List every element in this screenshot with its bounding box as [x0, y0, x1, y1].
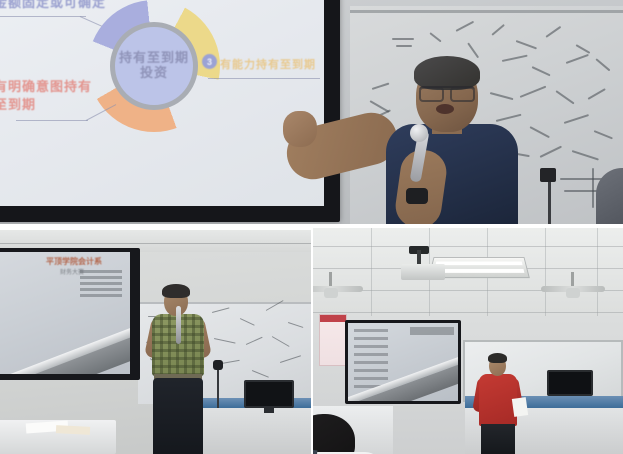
mic-stand-head: [540, 168, 556, 182]
papers-on-table: [56, 425, 90, 435]
projector-screen-frame: 平顶学院会计系 财务大赛: [0, 248, 140, 380]
ceiling-fan-hub: [324, 288, 338, 298]
ceiling-fan-hub: [566, 288, 580, 298]
held-paper: [512, 397, 528, 417]
slide-toolbar-strip: [410, 327, 454, 335]
ceiling-fan-blades: [313, 286, 363, 292]
mic-stand-pole: [217, 366, 219, 408]
eyeglasses-icon: [419, 86, 475, 98]
mic-stand-head: [213, 360, 223, 370]
ceiling-fan-rod: [571, 272, 574, 286]
wall-poster-header: [320, 315, 346, 322]
presenter-trousers: [481, 424, 515, 454]
monitor-stand: [264, 408, 274, 413]
ceiling-tile-line: [597, 228, 598, 316]
ceiling-tile-line: [545, 228, 546, 316]
presenter-fist: [283, 111, 317, 147]
slide-label-left: 有明确意图持有 至到期: [0, 78, 92, 113]
microphone-icon: [176, 306, 181, 344]
projector-screen: 平顶学院会计系 财务大赛: [0, 252, 130, 374]
donut-center-label: 持有至到期投资: [115, 51, 193, 81]
slide-leader-line-right: [208, 78, 320, 79]
ceiling-edge-line: [0, 243, 311, 244]
desktop-monitor: [244, 380, 294, 408]
projector-screen: [348, 323, 458, 401]
slide-bridge-photo: [348, 353, 458, 401]
projector-screen-frame: [345, 320, 461, 404]
ceiling-tile-line: [313, 246, 623, 247]
lanyard: [313, 450, 318, 454]
slide-text-column: [80, 270, 122, 298]
presenter-hair: [414, 56, 480, 90]
desktop-monitor: [547, 370, 593, 396]
slide-leader-line-left: [16, 120, 88, 121]
handwriting-stroke: [396, 45, 412, 47]
photo-speaker-green-plaid: 平顶学院会计系 财务大赛: [0, 230, 311, 454]
microphone-head: [410, 124, 428, 142]
wristwatch-icon: [406, 188, 428, 204]
handwriting-stroke: [392, 38, 414, 40]
speaker-trousers: [153, 378, 203, 454]
presenter-hair: [488, 353, 507, 363]
slide-donut-diagram: 持有至到期投资: [88, 0, 220, 132]
speaker-hair: [162, 284, 190, 298]
ceiling-tile-line: [313, 312, 623, 313]
slide-bridge-photo: [0, 290, 130, 374]
whiteboard-rail: [350, 10, 623, 13]
ceiling-fan-rod: [329, 272, 332, 286]
projector-screen: 金额固定或可确定 持有至到期投资 有明确意图持有 至到期 3 有能力持有至到期: [0, 0, 324, 206]
donut-center: 持有至到期投资: [110, 22, 198, 110]
ceiling-tile-line: [371, 228, 372, 316]
photo-classroom-wide-view: [313, 228, 623, 454]
desk-front-panel: [196, 408, 311, 454]
projector-screen-frame: 金额固定或可确定 持有至到期投资 有明确意图持有 至到期 3 有能力持有至到期: [0, 0, 340, 222]
slide-badge-3: 3: [202, 54, 217, 69]
slide-leader-line-top: [0, 16, 86, 17]
ceiling-projector: [401, 264, 445, 280]
presenter-mouth: [436, 104, 454, 114]
photo-collage: 金额固定或可确定 持有至到期投资 有明确意图持有 至到期 3 有能力持有至到期: [0, 0, 623, 454]
slide-label-right: 有能力持有至到期: [220, 56, 316, 72]
handwriting-stroke: [592, 168, 594, 208]
mic-stand-pole: [548, 178, 551, 224]
photo-presenter-closeup: 金额固定或可确定 持有至到期投资 有明确意图持有 至到期 3 有能力持有至到期: [0, 0, 623, 224]
slide-title: 平顶学院会计系: [46, 256, 102, 267]
